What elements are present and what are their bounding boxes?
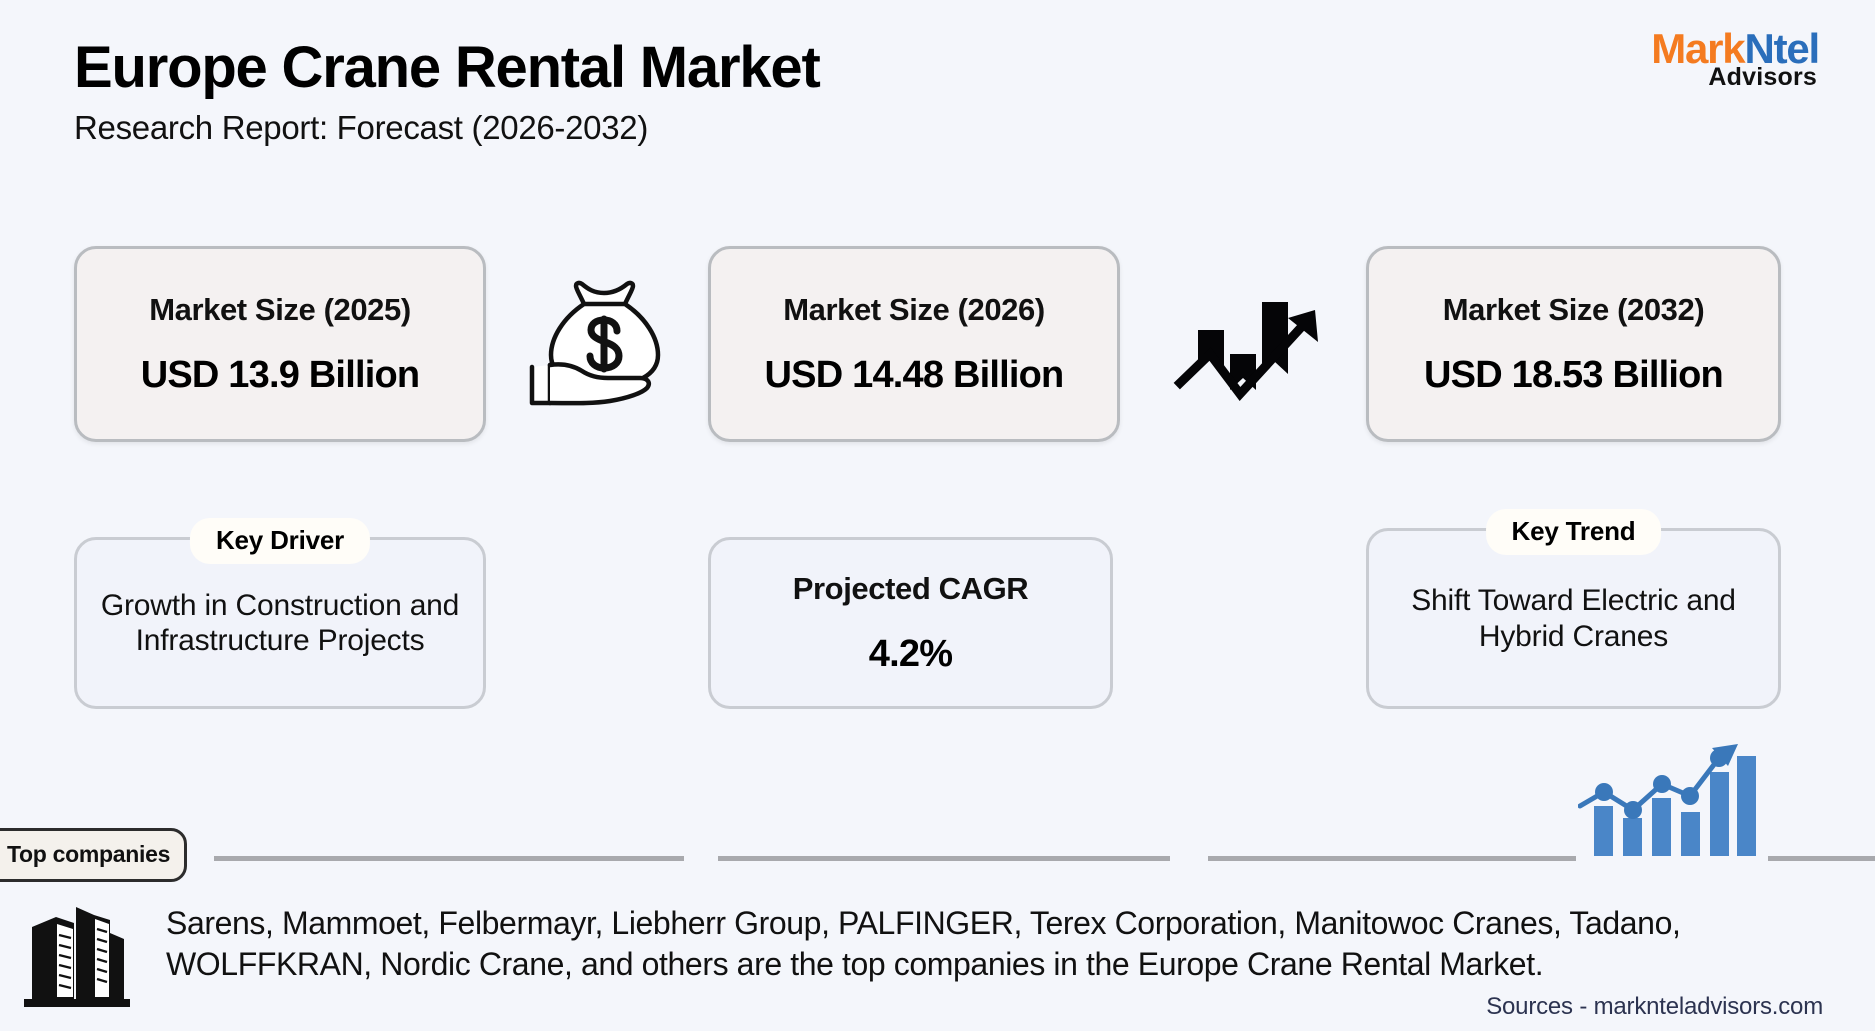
money-bag-in-hand-icon xyxy=(524,262,684,412)
card-label: Market Size (2032) xyxy=(1443,292,1705,328)
page-subtitle: Research Report: Forecast (2026-2032) xyxy=(74,109,820,147)
key-trend-card: Key Trend Shift Toward Electric and Hybr… xyxy=(1366,528,1781,709)
card-label: Market Size (2026) xyxy=(783,292,1045,328)
divider-segment xyxy=(1208,856,1576,861)
market-size-2032-card: Market Size (2032) USD 18.53 Billion xyxy=(1366,246,1781,442)
growth-bar-arrow-icon xyxy=(1168,282,1328,407)
key-driver-badge: Key Driver xyxy=(190,518,370,564)
office-buildings-icon xyxy=(18,905,136,1013)
top-companies-badge: Top companies xyxy=(0,828,187,882)
market-size-2026-card: Market Size (2026) USD 14.48 Billion xyxy=(708,246,1120,442)
market-size-2025-card: Market Size (2025) USD 13.9 Billion xyxy=(74,246,486,442)
key-driver-card: Key Driver Growth in Construction and In… xyxy=(74,537,486,709)
card-value: USD 18.53 Billion xyxy=(1424,354,1723,397)
brand-logo: MarkNtel Advisors xyxy=(1651,28,1819,90)
key-trend-badge: Key Trend xyxy=(1486,509,1662,555)
divider-segment xyxy=(214,856,684,861)
sources-label: Sources - marknteladvisors.com xyxy=(1486,993,1823,1021)
blue-bar-line-chart-icon xyxy=(1578,740,1758,862)
key-driver-text: Growth in Construction and Infrastructur… xyxy=(77,588,483,658)
card-value: USD 14.48 Billion xyxy=(765,354,1064,397)
card-label: Market Size (2025) xyxy=(149,292,411,328)
infographic-page: Europe Crane Rental Market Research Repo… xyxy=(0,0,1875,1031)
header: Europe Crane Rental Market Research Repo… xyxy=(74,38,820,147)
key-trend-text: Shift Toward Electric and Hybrid Cranes xyxy=(1369,583,1778,653)
top-companies-text: Sarens, Mammoet, Felbermayr, Liebherr Gr… xyxy=(166,903,1831,985)
projected-cagr-card: Projected CAGR 4.2% xyxy=(708,537,1113,709)
card-label: Projected CAGR xyxy=(793,571,1029,607)
divider-segment xyxy=(718,856,1170,861)
card-value: USD 13.9 Billion xyxy=(141,354,420,397)
card-value: 4.2% xyxy=(869,633,952,676)
divider-segment xyxy=(1768,856,1875,861)
page-title: Europe Crane Rental Market xyxy=(74,38,820,97)
